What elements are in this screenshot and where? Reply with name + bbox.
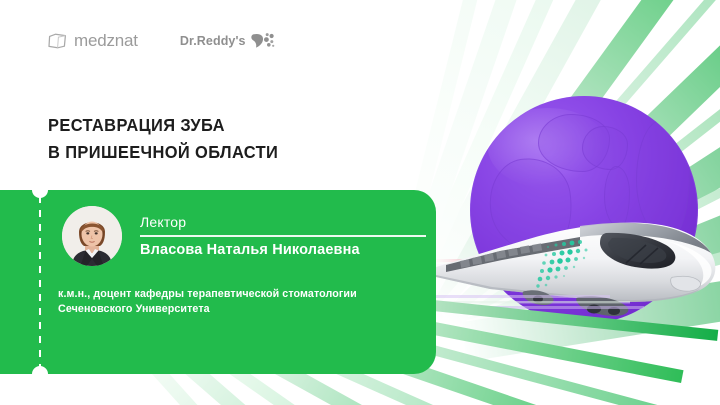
page-title: РЕСТАВРАЦИЯ ЗУБА В ПРИШЕЕЧНОЙ ОБЛАСТИ xyxy=(48,112,278,165)
lecturer-text-block: Лектор Власова Наталья Николаевна xyxy=(140,213,426,259)
reddys-dots-icon xyxy=(250,32,276,50)
header-logos: medznat Dr.Reddy's xyxy=(48,31,276,51)
ticket-perforation xyxy=(39,196,41,368)
lecturer-divider xyxy=(140,235,426,237)
medznat-logo-text: medznat xyxy=(74,31,138,51)
lecturer-name: Власова Наталья Николаевна xyxy=(140,243,426,259)
dr-reddys-logo-text: Dr.Reddy's xyxy=(180,34,246,48)
folder-outline-icon xyxy=(48,33,67,49)
globe-continent xyxy=(604,166,630,228)
presentation-slide: medznat Dr.Reddy's РЕСТАВРАЦИЯ ЗУБА В ПР… xyxy=(0,0,720,405)
ticket-notch-bottom xyxy=(32,366,48,382)
dr-reddys-logo[interactable]: Dr.Reddy's xyxy=(180,32,276,50)
lecturer-row: Лектор Власова Наталья Николаевна xyxy=(62,206,420,266)
lecturer-label: Лектор xyxy=(140,215,426,235)
lecturer-card: Лектор Власова Наталья Николаевна к.м.н.… xyxy=(0,190,436,374)
medznat-logo[interactable]: medznat xyxy=(48,31,138,51)
purple-globe xyxy=(470,96,698,324)
lecturer-description: к.м.н., доцент кафедры терапевтической с… xyxy=(58,287,420,317)
avatar xyxy=(62,206,122,266)
